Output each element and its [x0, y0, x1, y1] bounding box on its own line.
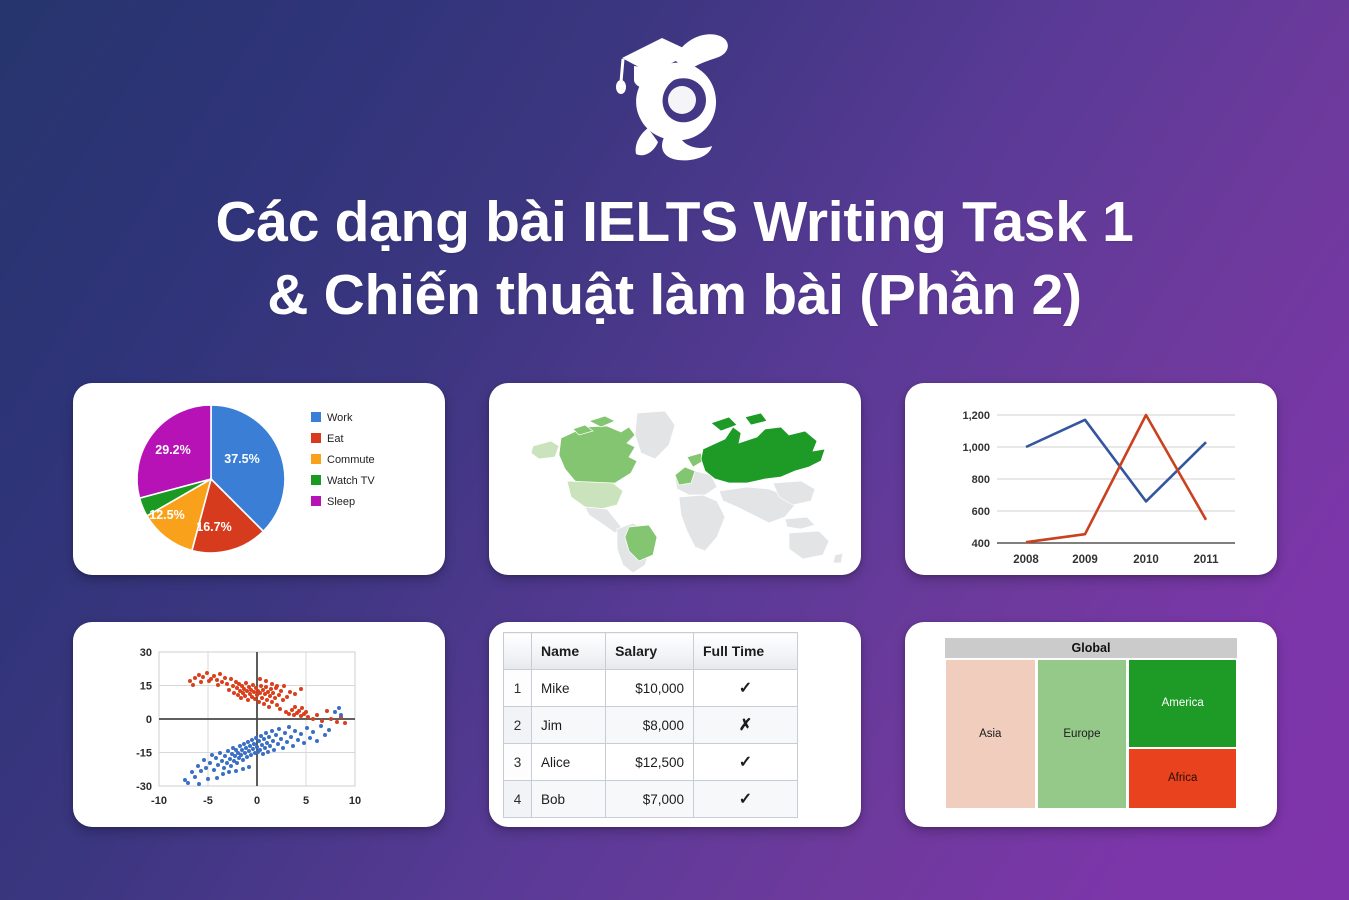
ytick-1000: 1,000	[962, 442, 990, 454]
ytick-15: 15	[140, 681, 152, 693]
legend-label-work: Work	[327, 412, 353, 424]
table-header: Name Salary Full Time	[504, 633, 798, 670]
treemap-cell-asia: Asia	[945, 659, 1036, 809]
ytick--15: -15	[136, 748, 152, 760]
title-line-1: Các dạng bài IELTS Writing Task 1	[0, 186, 1349, 259]
pie-label-work: 37.5%	[224, 452, 259, 466]
xtick--5: -5	[203, 795, 213, 807]
table-row: 4 Bob $7,000 ✓	[504, 781, 798, 818]
legend-label-watch-tv: Watch TV	[327, 475, 375, 487]
legend-swatch-eat	[311, 433, 321, 443]
map-region-finland	[687, 453, 703, 467]
line-chart: 1,200 1,000 800 600 400 2008 2009 2010 2…	[905, 383, 1277, 575]
treemap-cell-africa: Africa	[1128, 748, 1237, 809]
title-line-2: & Chiến thuật làm bài (Phần 2)	[0, 259, 1349, 332]
table-row: 3 Alice $12,500 ✓	[504, 744, 798, 781]
map-region-united-states	[567, 481, 623, 509]
cell-name: Jim	[532, 707, 606, 744]
table-card: Name Salary Full Time 1 Mike $10,000 ✓ 2…	[489, 622, 861, 827]
treemap-cell-america: America	[1128, 659, 1237, 748]
map-region-russia-islands	[745, 413, 767, 425]
scatter-plot-card: 30 15 0 -15 -30 -10 -5 0 5 10	[73, 622, 445, 827]
cell-salary: $7,000	[606, 781, 694, 818]
col-name: Name	[532, 633, 606, 670]
cell-index: 4	[504, 781, 532, 818]
xtick-0: 0	[254, 795, 260, 807]
ytick-1200: 1,200	[962, 410, 990, 422]
pie-chart: 37.5% 16.7% 12.5% 29.2% Work Eat Commute…	[73, 383, 445, 575]
xtick-2008: 2008	[1013, 554, 1039, 566]
treemap-box: Global Asia Europe America Africa	[945, 638, 1237, 809]
map-region-australia	[789, 531, 829, 559]
pie-label-eat: 16.7%	[196, 520, 231, 534]
legend-label-sleep: Sleep	[327, 496, 355, 508]
treemap-card: Global Asia Europe America Africa	[905, 622, 1277, 827]
table-row: 2 Jim $8,000 ✗	[504, 707, 798, 744]
map-region-canada	[559, 426, 637, 485]
cell-name: Bob	[532, 781, 606, 818]
map-region-russia	[701, 427, 825, 483]
legend-swatch-commute	[311, 454, 321, 464]
cell-index: 2	[504, 707, 532, 744]
map-region-new-zealand	[833, 553, 843, 563]
col-index	[504, 633, 532, 670]
cell-full-time: ✓	[694, 670, 798, 707]
cell-full-time: ✓	[694, 781, 798, 818]
legend-label-commute: Commute	[327, 454, 375, 466]
treemap: Global Asia Europe America Africa	[905, 622, 1277, 827]
treemap-header: Global	[945, 638, 1237, 658]
xtick-2010: 2010	[1133, 554, 1159, 566]
line-chart-card: 1,200 1,000 800 600 400 2008 2009 2010 2…	[905, 383, 1277, 575]
pie-legend: Work Eat Commute Watch TV Sleep	[311, 412, 375, 508]
pie-label-sleep: 29.2%	[155, 443, 190, 457]
cell-salary: $12,500	[606, 744, 694, 781]
ytick-800: 800	[972, 474, 990, 486]
cell-name: Alice	[532, 744, 606, 781]
cell-salary: $10,000	[606, 670, 694, 707]
graduation-cap-mascot-icon	[600, 22, 750, 162]
ytick-0: 0	[146, 714, 152, 726]
cell-index: 3	[504, 744, 532, 781]
treemap-cell-europe: Europe	[1037, 659, 1128, 809]
map-region-canada-arctic	[589, 416, 615, 427]
map-region-greenland	[635, 411, 675, 459]
scatter-plot: 30 15 0 -15 -30 -10 -5 0 5 10	[73, 622, 445, 827]
pie-chart-card: 37.5% 16.7% 12.5% 29.2% Work Eat Commute…	[73, 383, 445, 575]
pie-label-commute: 12.5%	[149, 508, 184, 522]
xtick-2009: 2009	[1072, 554, 1098, 566]
legend-label-eat: Eat	[327, 433, 344, 445]
legend-swatch-work	[311, 412, 321, 422]
xtick-2011: 2011	[1194, 554, 1220, 566]
cell-index: 1	[504, 670, 532, 707]
cell-full-time: ✓	[694, 744, 798, 781]
ytick-400: 400	[972, 538, 990, 550]
world-map-card	[489, 383, 861, 575]
legend-swatch-sleep	[311, 496, 321, 506]
ytick--30: -30	[136, 781, 152, 793]
legend-swatch-watch-tv	[311, 475, 321, 485]
map-region-indonesia	[785, 517, 815, 529]
table-header-row: Name Salary Full Time	[504, 633, 798, 670]
cell-full-time: ✗	[694, 707, 798, 744]
map-region-africa	[679, 495, 725, 551]
map-region-alaska	[531, 441, 559, 459]
salary-table: Name Salary Full Time 1 Mike $10,000 ✓ 2…	[503, 632, 798, 818]
cell-name: Mike	[532, 670, 606, 707]
table-body: 1 Mike $10,000 ✓ 2 Jim $8,000 ✗ 3 Alice	[504, 670, 798, 818]
xtick-5: 5	[303, 795, 309, 807]
ytick-30: 30	[140, 647, 152, 659]
col-salary: Salary	[606, 633, 694, 670]
table-row: 1 Mike $10,000 ✓	[504, 670, 798, 707]
col-full-time: Full Time	[694, 633, 798, 670]
brand-logo	[0, 22, 1349, 162]
xtick-10: 10	[349, 795, 361, 807]
ytick-600: 600	[972, 506, 990, 518]
poster-canvas: Các dạng bài IELTS Writing Task 1 & Chiế…	[0, 0, 1349, 900]
xtick--10: -10	[151, 795, 167, 807]
line-series-blue	[1026, 420, 1206, 502]
page-title: Các dạng bài IELTS Writing Task 1 & Chiế…	[0, 186, 1349, 332]
world-choropleth-map	[489, 383, 861, 575]
cell-salary: $8,000	[606, 707, 694, 744]
